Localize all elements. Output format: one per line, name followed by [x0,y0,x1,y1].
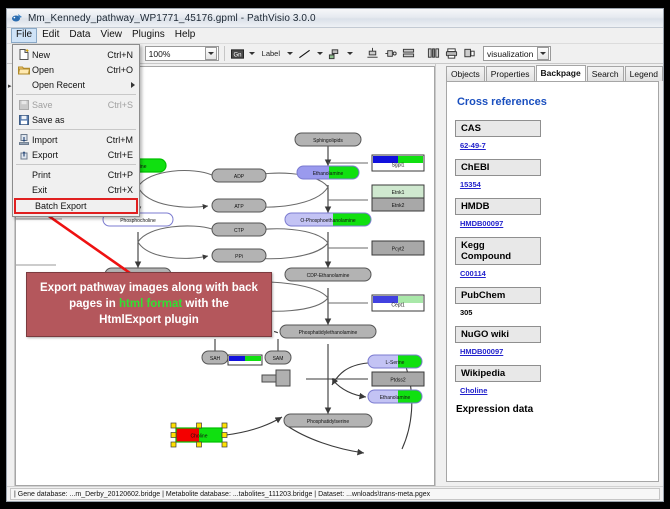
node-sah: SAH [202,351,228,364]
menu-separator [16,164,136,165]
svg-text:Ethanolamine: Ethanolamine [313,171,344,177]
node-choline-selected: Choline [171,423,227,447]
svg-text:ATP: ATP [234,204,244,210]
svg-text:CDP-Ethanolamine: CDP-Ethanolamine [307,273,350,279]
expression-data-heading: Expression data [456,404,650,415]
label-dropdown-icon[interactable] [285,46,294,61]
menuitem-batch-export[interactable]: Batch Export [14,198,138,214]
node-phosphatidylethanolamine: Phosphatidylethanolamine [280,325,376,338]
expand-arrow-icon[interactable]: ▸ [8,82,12,90]
side-panel-tabstrip: Objects Properties Backpage Search Legen… [436,64,663,81]
svg-text:O-Phosphoethanolamine: O-Phosphoethanolamine [300,218,356,224]
menu-edit[interactable]: Edit [37,28,64,43]
svg-text:Ethanolamine: Ethanolamine [380,395,411,401]
menu-file[interactable]: File [11,28,37,43]
print-button[interactable] [444,46,459,61]
backpage-section-cas: CAS 62-49-7 [455,120,650,150]
svg-text:PPi: PPi [235,254,243,260]
kegg-compound-heading: Kegg Compound [455,237,541,265]
export-icon [15,149,32,160]
menuitem-exit[interactable]: Exit Ctrl+X [13,182,139,197]
datanode-dropdown-icon[interactable] [248,46,257,61]
pubchem-value: 305 [460,308,473,317]
gene-box-cept1: Cept1 [372,295,424,311]
menuitem-export[interactable]: Export Ctrl+E [13,147,139,162]
svg-text:Phosphatidylserine: Phosphatidylserine [307,419,349,425]
menuitem-save: Save Ctrl+S [13,97,139,112]
tab-legend[interactable]: Legend [625,66,663,81]
wikipedia-heading: Wikipedia [455,365,541,382]
svg-text:Pcyt2: Pcyt2 [392,247,405,253]
node-sam: SAM [265,351,291,364]
distribute-button[interactable] [426,46,441,61]
annotation-highlight: html format [119,298,182,310]
svg-text:Etnk1: Etnk1 [392,190,405,196]
svg-text:Sphingolipids: Sphingolipids [313,138,343,144]
svg-text:Sgpl1: Sgpl1 [392,163,405,169]
zoom-value: 100% [149,49,171,59]
kegg-compound-value-link[interactable]: C00114 [460,269,486,278]
import-icon [15,134,32,145]
menuitem-print[interactable]: Print Ctrl+P [13,167,139,182]
annotation-line-2-prefix: pages in [69,298,119,310]
tab-properties[interactable]: Properties [486,66,535,81]
menuitem-save-as[interactable]: Save as [13,112,139,127]
statusbar: | Gene database: ...m_Derby_20120602.bri… [7,486,663,501]
node-ethanolamine-top: Ethanolamine [297,166,359,179]
zoom-combobox[interactable]: 100% [145,46,219,61]
align-middle-button[interactable] [383,46,398,61]
annotation-line-2: pages in html format with the [31,296,267,312]
tab-objects[interactable]: Objects [446,66,485,81]
annotation-line-2-suffix: with the [182,298,229,310]
statusbar-text: | Gene database: ...m_Derby_20120602.bri… [10,488,660,500]
window-title: Mm_Kennedy_pathway_WP1771_45176.gpml - P… [28,13,316,24]
align-stack-button[interactable] [401,46,416,61]
node-o-phosphoethanolamine: O-Phosphoethanolamine [285,213,371,226]
backpage-section-nugo: NuGO wiki HMDB00097 [455,326,650,356]
menu-help[interactable]: Help [170,28,201,43]
node-adp: ADP [212,169,266,182]
menu-separator [16,129,136,130]
cas-value-link[interactable]: 62-49-7 [460,141,486,150]
menuitem-open[interactable]: Open Ctrl+O [13,62,139,77]
menu-separator [16,94,136,95]
bring-front-button[interactable] [462,46,477,61]
svg-text:Gn: Gn [233,52,241,58]
chebi-value-link[interactable]: 15354 [460,180,481,189]
chebi-heading: ChEBI [455,159,541,176]
node-ppi: PPi [212,249,266,262]
annotation-callout: Export pathway images along with back pa… [26,272,272,337]
node-phosphatidylserine: Phosphatidylserine [284,414,372,427]
nugo-wiki-value-link[interactable]: HMDB00097 [460,347,503,356]
node-atp: ATP [212,199,266,212]
datanode-tool-button[interactable]: Gn [230,46,245,61]
line-dropdown-icon[interactable] [315,46,324,61]
menu-view[interactable]: View [95,28,127,43]
new-file-icon [15,49,32,60]
pathvisio-window: Mm_Kennedy_pathway_WP1771_45176.gpml - P… [6,8,664,502]
chevron-down-icon[interactable] [537,47,549,60]
node-sphingolipids: Sphingolipids [295,133,361,146]
visualization-value: visualization [487,49,533,59]
tab-backpage[interactable]: Backpage [536,65,586,81]
desktop-background: Mm_Kennedy_pathway_WP1771_45176.gpml - P… [0,0,670,509]
backpage-section-kegg: Kegg Compound C00114 [455,237,650,278]
svg-text:Etnk2: Etnk2 [392,203,405,209]
nugo-wiki-heading: NuGO wiki [455,326,541,343]
svg-text:ADP: ADP [234,174,245,180]
wikipedia-value-link[interactable]: Choline [460,386,488,395]
node-l-serine: L-Serine [368,355,422,368]
align-top-button[interactable] [365,46,380,61]
label-tool-button[interactable]: Label [260,46,282,61]
menubar: File Edit Data View Plugins Help [7,28,663,44]
line-tool-button[interactable] [297,46,312,61]
gene-box-pcyt2: Pcyt2 [372,241,424,255]
menuitem-import[interactable]: Import Ctrl+M [13,132,139,147]
backpage-title: Cross references [457,96,650,108]
gene-box-sgpl1: Sgpl1 [372,155,424,171]
svg-text:Cept1: Cept1 [391,303,405,309]
tab-search[interactable]: Search [587,66,624,81]
open-folder-icon [15,65,32,75]
save-disk-icon [15,100,32,110]
svg-text:CTP: CTP [234,228,245,234]
label-tool-label: Label [262,49,280,58]
chevron-down-icon[interactable] [205,47,217,60]
gene-box-etnk1: Etnk1 [372,185,424,198]
shape-tool-button[interactable] [327,46,342,61]
backpage-content[interactable]: Cross references CAS 62-49-7 ChEBI 15354… [446,81,659,482]
menu-plugins[interactable]: Plugins [127,28,170,43]
svg-text:Phosphatidylethanolamine: Phosphatidylethanolamine [299,330,358,336]
svg-text:SAM: SAM [273,356,284,362]
node-ctp: CTP [212,223,266,236]
hmdb-value-link[interactable]: HMDB00097 [460,219,503,228]
visualization-combobox[interactable]: visualization [483,46,551,61]
svg-text:Choline: Choline [191,434,208,440]
menuitem-open-recent[interactable]: Open Recent [13,77,139,92]
annotation-line-3: HtmlExport plugin [31,312,267,328]
cas-heading: CAS [455,120,541,137]
svg-text:Phosphocholine: Phosphocholine [120,218,156,224]
gene-box-mini [228,355,262,365]
pathvisio-app-icon [11,12,23,24]
backpage-section-wikipedia: Wikipedia Choline [455,365,650,395]
backpage-section-chebi: ChEBI 15354 [455,159,650,189]
svg-text:SAH: SAH [210,356,221,362]
svg-text:L-Serine: L-Serine [386,360,405,366]
backpage-section-hmdb: HMDB HMDB00097 [455,198,650,228]
node-cdp-ethanolamine: CDP-Ethanolamine [285,268,371,281]
window-titlebar: Mm_Kennedy_pathway_WP1771_45176.gpml - P… [7,9,663,28]
side-panel: Objects Properties Backpage Search Legen… [435,64,663,486]
svg-text:Ptdss2: Ptdss2 [390,378,406,384]
toolbar-separator [224,46,225,61]
menuitem-new[interactable]: New Ctrl+N [13,47,139,62]
hmdb-heading: HMDB [455,198,541,215]
save-as-icon [15,115,32,125]
shape-dropdown-icon[interactable] [345,46,354,61]
file-menu-dropdown[interactable]: New Ctrl+N Open Ctrl+O Open Recent Save … [12,44,140,217]
gene-box-etnk2: Etnk2 [372,198,424,211]
chevron-right-icon [131,82,135,88]
backpage-section-pubchem: PubChem 305 [455,287,650,317]
menu-data[interactable]: Data [64,28,95,43]
node-ethanolamine-bottom: Ethanolamine [368,390,422,403]
gene-box-ptdss2: Ptdss2 [372,372,424,386]
annotation-line-1: Export pathway images along with back [31,280,267,296]
pubchem-heading: PubChem [455,287,541,304]
